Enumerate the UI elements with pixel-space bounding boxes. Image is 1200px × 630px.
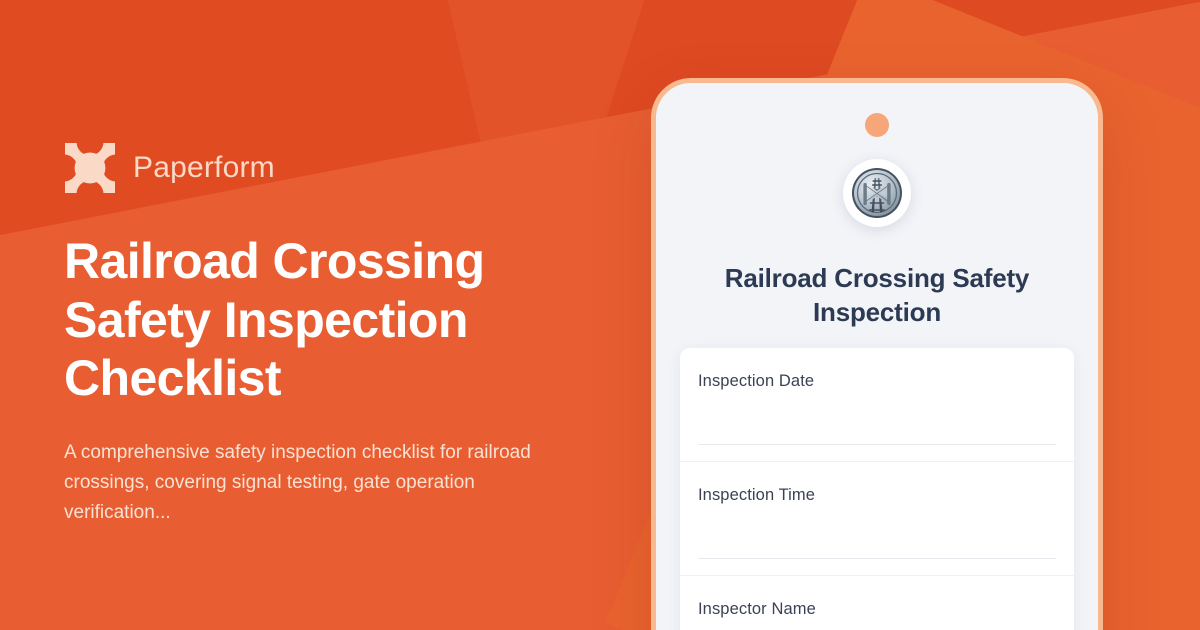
field-label: Inspector Name: [698, 600, 1056, 619]
hero-content: Paperform Railroad Crossing Safety Inspe…: [64, 142, 584, 529]
form-title: Railroad Crossing Safety Inspection: [684, 261, 1070, 329]
og-image-canvas: Paperform Railroad Crossing Safety Inspe…: [0, 0, 1200, 630]
field-underline: [698, 558, 1056, 559]
brand-name: Paperform: [133, 153, 275, 183]
field-label: Inspection Time: [698, 486, 1056, 505]
form-field-inspection-time[interactable]: Inspection Time: [680, 462, 1074, 576]
page-title: Railroad Crossing Safety Inspection Chec…: [64, 232, 534, 408]
camera-dot-icon: [865, 113, 889, 137]
form-field-inspection-date[interactable]: Inspection Date: [680, 348, 1074, 462]
field-label: Inspection Date: [698, 372, 1056, 391]
form-field-inspector-name[interactable]: Inspector Name: [680, 576, 1074, 630]
phone-screen: Railroad Crossing Safety Inspection Insp…: [656, 83, 1098, 630]
page-description: A comprehensive safety inspection checkl…: [64, 438, 554, 529]
field-underline: [698, 444, 1056, 445]
brand-lockup: Paperform: [64, 142, 584, 194]
form-card: Inspection Date Inspection Time Inspecto…: [680, 348, 1074, 630]
paperform-logo-icon: [64, 142, 116, 194]
railroad-crossing-icon: [843, 159, 911, 227]
phone-mockup: Railroad Crossing Safety Inspection Insp…: [651, 78, 1103, 630]
